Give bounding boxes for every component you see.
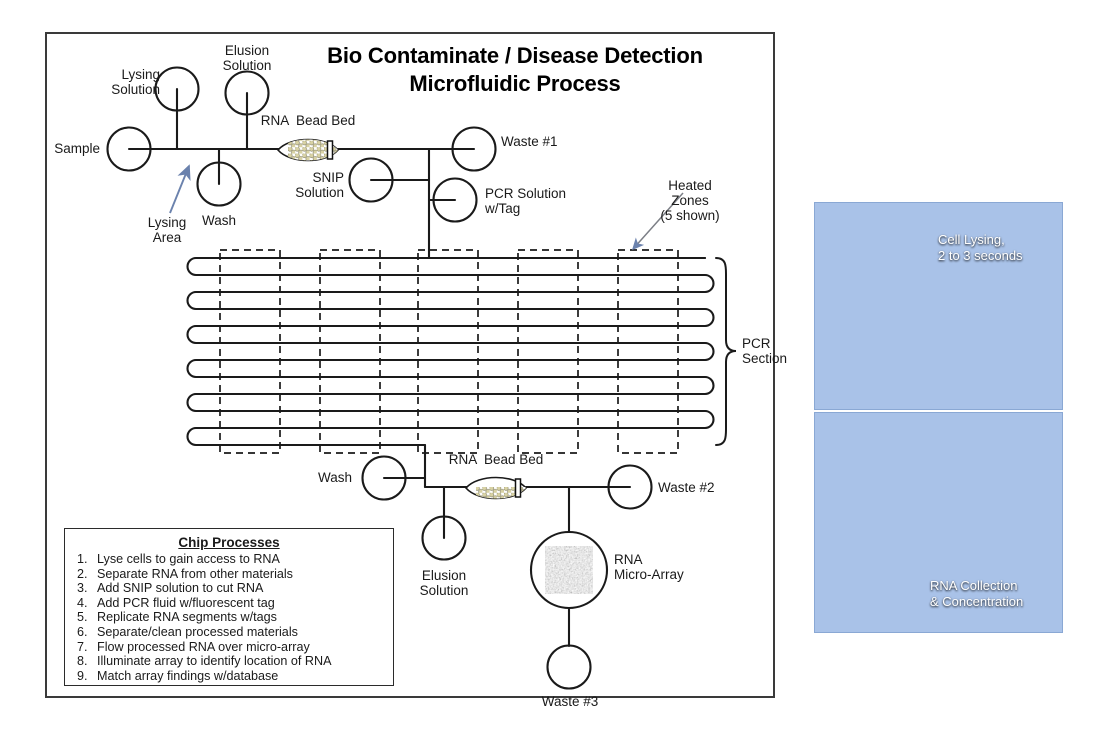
item-number: 8.	[77, 654, 97, 669]
item-text: Illuminate array to identify location of…	[97, 654, 332, 669]
item-number: 5.	[77, 610, 97, 625]
item-text: Replicate RNA segments w/tags	[97, 610, 277, 625]
item-number: 6.	[77, 625, 97, 640]
label-snip-solution: SNIP Solution	[272, 170, 344, 200]
label-pcr-solution: PCR Solution w/Tag	[485, 186, 615, 216]
label-waste-3: Waste #3	[524, 694, 616, 709]
label-wash-top: Wash	[186, 213, 252, 228]
label-wash-bottom: Wash	[290, 470, 352, 485]
item-number: 1.	[77, 552, 97, 567]
label-rna-bead-bed-bottom: RNA Bead Bed	[436, 452, 556, 467]
label-pcr-section: PCR Section	[742, 336, 812, 366]
label-rna-bead-bed-top: RNA Bead Bed	[248, 113, 368, 128]
item-number: 9.	[77, 669, 97, 684]
chip-processes-heading: Chip Processes	[65, 535, 393, 550]
list-item: 4.Add PCR fluid w/fluorescent tag	[65, 596, 393, 611]
list-item: 1.Lyse cells to gain access to RNA	[65, 552, 393, 567]
list-item: 9.Match array findings w/database	[65, 669, 393, 684]
photo-caption-rna-collection: RNA Collection & Concentration	[930, 578, 1023, 610]
item-text: Add PCR fluid w/fluorescent tag	[97, 596, 275, 611]
title-line-1: Bio Contaminate / Disease Detection	[265, 42, 765, 70]
item-number: 3.	[77, 581, 97, 596]
item-number: 2.	[77, 567, 97, 582]
item-number: 4.	[77, 596, 97, 611]
item-number: 7.	[77, 640, 97, 655]
list-item: 3.Add SNIP solution to cut RNA	[65, 581, 393, 596]
list-item: 7.Flow processed RNA over micro-array	[65, 640, 393, 655]
chip-processes-list: 1.Lyse cells to gain access to RNA 2.Sep…	[65, 552, 393, 683]
label-lysing-solution: Lysing Solution	[85, 67, 160, 97]
page-title: Bio Contaminate / Disease Detection Micr…	[265, 42, 765, 98]
label-rna-micro-array: RNA Micro-Array	[614, 552, 724, 582]
label-elusion-solution-bottom: Elusion Solution	[400, 568, 488, 598]
list-item: 2.Separate RNA from other materials	[65, 567, 393, 582]
item-text: Flow processed RNA over micro-array	[97, 640, 310, 655]
item-text: Match array findings w/database	[97, 669, 278, 684]
list-item: 8.Illuminate array to identify location …	[65, 654, 393, 669]
item-text: Lyse cells to gain access to RNA	[97, 552, 280, 567]
label-waste-1: Waste #1	[501, 134, 611, 149]
photo-caption-cell-lysing: Cell Lysing, 2 to 3 seconds	[938, 232, 1023, 264]
title-line-2: Microfluidic Process	[265, 70, 765, 98]
list-item: 5.Replicate RNA segments w/tags	[65, 610, 393, 625]
item-text: Separate RNA from other materials	[97, 567, 293, 582]
chip-processes-box: Chip Processes 1.Lyse cells to gain acce…	[64, 528, 394, 686]
label-heated-zones: Heated Zones (5 shown)	[646, 178, 734, 223]
label-sample: Sample	[20, 141, 100, 156]
list-item: 6.Separate/clean processed materials	[65, 625, 393, 640]
item-text: Separate/clean processed materials	[97, 625, 298, 640]
label-waste-2: Waste #2	[658, 480, 768, 495]
item-text: Add SNIP solution to cut RNA	[97, 581, 263, 596]
label-elusion-solution-top: Elusion Solution	[206, 43, 288, 73]
